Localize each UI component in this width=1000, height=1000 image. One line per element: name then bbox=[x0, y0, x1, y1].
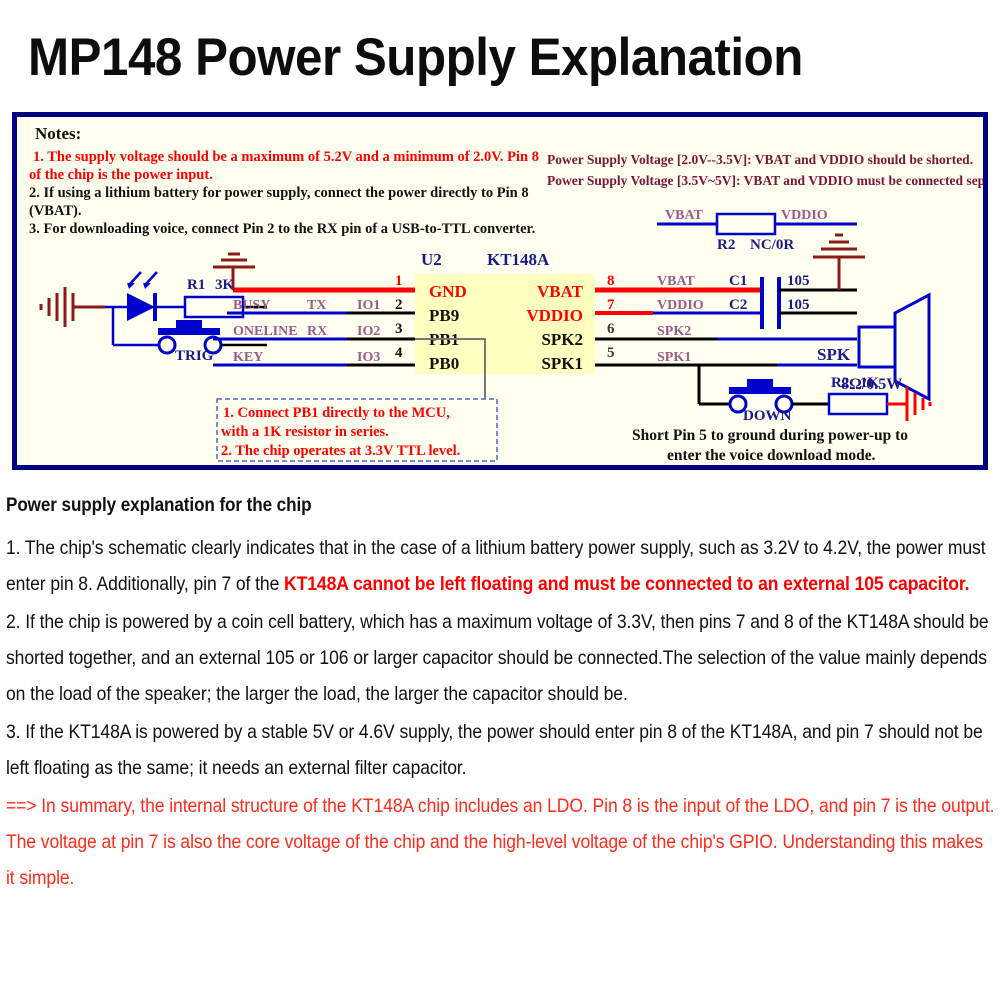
notes-line-5: 3. For downloading voice, connect Pin 2 … bbox=[29, 221, 535, 237]
chip-pin-name-vddio: VDDIO bbox=[526, 306, 583, 325]
chip-pin-name-pb0: PB0 bbox=[429, 354, 459, 373]
schematic-diagram: Notes: 1. The supply voltage should be a… bbox=[12, 112, 988, 470]
trig-button-label: TRIG bbox=[175, 348, 214, 364]
chip-pin-num-6: 6 bbox=[607, 321, 615, 337]
net-label-vbat-pin8: VBAT bbox=[657, 274, 696, 289]
download-note: Short Pin 5 to ground during power-up to… bbox=[632, 427, 908, 464]
net-label-vddio-top: VDDIO bbox=[781, 208, 828, 223]
chip-u2: U2 KT148A GND PB9 PB1 PB0 VBAT VDDIO SPK… bbox=[395, 250, 615, 374]
chip-pin-num-8: 8 bbox=[607, 273, 615, 289]
schematic-svg: Notes: 1. The supply voltage should be a… bbox=[17, 117, 983, 465]
down-button[interactable]: DOWN bbox=[699, 365, 829, 424]
resistor-r1-ref: R1 bbox=[187, 277, 205, 293]
body-text: Power supply explanation for the chip 1.… bbox=[6, 488, 996, 898]
capacitor-c1-value: 105 bbox=[787, 273, 810, 289]
down-button-label: DOWN bbox=[743, 408, 792, 424]
chip-pin-num-3: 3 bbox=[395, 321, 403, 337]
speaker-label: SPK bbox=[817, 345, 851, 364]
chip-pin-name-spk2: SPK2 bbox=[541, 330, 583, 349]
net-label-io3: IO3 bbox=[357, 350, 380, 365]
notes-block: Notes: 1. The supply voltage should be a… bbox=[29, 124, 539, 237]
mcu-note-line-3: 2. The chip operates at 3.3V TTL level. bbox=[221, 443, 460, 459]
resistor-r2-down-ref: R2 bbox=[831, 375, 849, 391]
resistor-r2-down-value: 1K bbox=[860, 375, 880, 391]
chip-pin-name-gnd: GND bbox=[429, 282, 467, 301]
paragraph-1-emphasis: KT148A cannot be left floating and must … bbox=[284, 573, 969, 595]
body-heading: Power supply explanation for the chip bbox=[6, 488, 996, 524]
chip-pin-name-pb9: PB9 bbox=[429, 306, 459, 325]
body-paragraph-1: 1. The chip's schematic clearly indicate… bbox=[6, 530, 996, 602]
notes-line-3: 2. If using a lithium battery for power … bbox=[29, 185, 529, 201]
resistor-r2-top-ref: R2 bbox=[717, 237, 735, 253]
net-label-oneline: ONELINE bbox=[233, 324, 298, 339]
notes-header: Notes: bbox=[35, 124, 81, 143]
body-paragraph-summary: ==> In summary, the internal structure o… bbox=[6, 788, 996, 896]
chip-pin-num-4: 4 bbox=[395, 345, 403, 361]
mcu-note-box: 1. Connect PB1 directly to the MCU, with… bbox=[217, 399, 497, 461]
chip-pin-num-2: 2 bbox=[395, 297, 403, 313]
ground-symbol-right bbox=[813, 235, 865, 290]
net-label-busy: BUSY bbox=[233, 298, 270, 313]
left-net-labels: BUSY TX IO1 ONELINE RX IO2 KEY IO3 bbox=[213, 298, 415, 365]
notes-line-1: 1. The supply voltage should be a maximu… bbox=[33, 149, 539, 165]
notes-line-4: (VBAT). bbox=[29, 203, 82, 219]
net-label-io1: IO1 bbox=[357, 298, 380, 313]
battery-ground-symbol bbox=[41, 287, 105, 327]
download-note-line-2: enter the voice download mode. bbox=[667, 447, 876, 464]
notes-line-2: of the chip is the power input. bbox=[29, 167, 213, 183]
gnd-wire bbox=[213, 254, 415, 290]
capacitor-c1-ref: C1 bbox=[729, 273, 747, 289]
chip-pin-num-5: 5 bbox=[607, 345, 615, 361]
chip-designator: U2 bbox=[421, 250, 442, 269]
net-label-key: KEY bbox=[233, 350, 263, 365]
net-label-spk1: SPK1 bbox=[657, 350, 691, 365]
capacitor-c2-ref: C2 bbox=[729, 297, 747, 313]
download-note-line-1: Short Pin 5 to ground during power-up to bbox=[632, 427, 908, 444]
voltage-note-line-2: Power Supply Voltage [3.5V~5V]: VBAT and… bbox=[547, 173, 983, 188]
chip-pin-num-7: 7 bbox=[607, 297, 615, 313]
resistor-r2-top: VBAT VDDIO R2 NC/0R bbox=[657, 208, 857, 253]
chip-pin-name-spk1: SPK1 bbox=[541, 354, 583, 373]
body-paragraph-2: 2. If the chip is powered by a coin cell… bbox=[6, 604, 996, 712]
net-label-tx: TX bbox=[307, 298, 326, 313]
mcu-note-line-2: with a 1K resistor in series. bbox=[221, 424, 389, 440]
chip-part-number: KT148A bbox=[487, 250, 550, 269]
net-label-rx: RX bbox=[307, 324, 327, 339]
net-label-vbat-top: VBAT bbox=[665, 208, 704, 223]
net-label-spk2: SPK2 bbox=[657, 324, 691, 339]
mcu-note-line-1: 1. Connect PB1 directly to the MCU, bbox=[223, 405, 450, 421]
led-symbol bbox=[105, 272, 185, 321]
page-title: MP148 Power Supply Explanation bbox=[28, 28, 902, 90]
net-label-io2: IO2 bbox=[357, 324, 380, 339]
voltage-note-block: Power Supply Voltage [2.0V--3.5V]: VBAT … bbox=[547, 152, 983, 188]
body-paragraph-3: 3. If the KT148A is powered by a stable … bbox=[6, 714, 996, 786]
resistor-r2-top-value: NC/0R bbox=[750, 237, 794, 253]
chip-pin-name-vbat: VBAT bbox=[537, 282, 584, 301]
capacitor-c2-value: 105 bbox=[787, 297, 810, 313]
net-label-vddio-pin7: VDDIO bbox=[657, 298, 704, 313]
voltage-note-line-1: Power Supply Voltage [2.0V--3.5V]: VBAT … bbox=[547, 152, 973, 167]
chip-pin-num-1: 1 bbox=[395, 273, 403, 289]
